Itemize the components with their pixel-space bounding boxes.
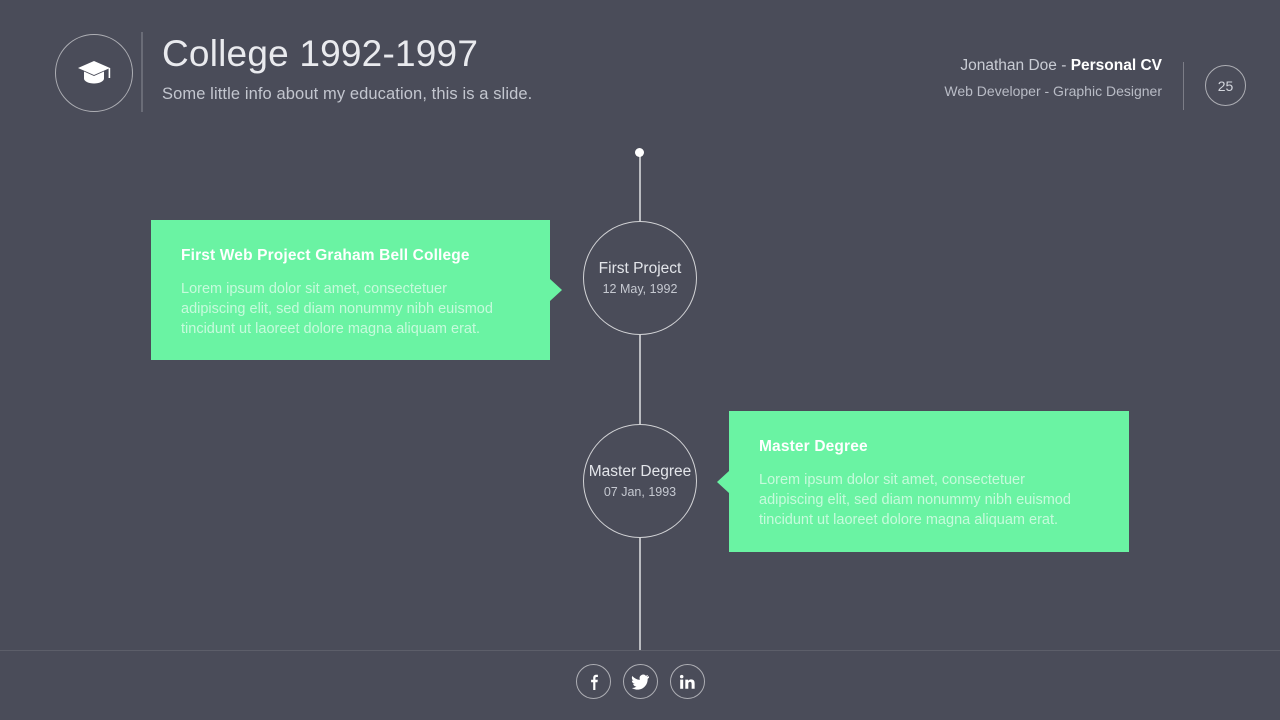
cv-author-line: Jonathan Doe - Personal CV bbox=[944, 57, 1162, 75]
timeline-node-title: First Project bbox=[599, 260, 682, 279]
timeline-node-title: Master Degree bbox=[589, 463, 692, 482]
page-number-badge: 25 bbox=[1205, 65, 1246, 106]
linkedin-icon[interactable] bbox=[670, 664, 705, 699]
twitter-icon[interactable] bbox=[623, 664, 658, 699]
card-title: First Web Project Graham Bell College bbox=[181, 247, 520, 266]
title-block: College 1992-1997 Some little info about… bbox=[162, 33, 532, 104]
slide-header: College 1992-1997 Some little info about… bbox=[0, 0, 1280, 130]
social-links bbox=[0, 664, 1280, 699]
cv-author-role: Web Developer - Graphic Designer bbox=[944, 83, 1162, 99]
cv-author-name: Jonathan Doe - bbox=[960, 57, 1070, 74]
meta-divider bbox=[1183, 62, 1184, 110]
card-pointer-right-icon bbox=[550, 279, 562, 301]
card-pointer-left-icon bbox=[717, 471, 729, 493]
cv-meta: Jonathan Doe - Personal CV Web Developer… bbox=[944, 57, 1162, 99]
timeline-card-master-degree[interactable]: Master Degree Lorem ipsum dolor sit amet… bbox=[729, 411, 1129, 552]
page-subtitle: Some little info about my education, thi… bbox=[162, 85, 532, 104]
graduation-cap-icon bbox=[55, 34, 133, 112]
timeline-node-master-degree[interactable]: Master Degree 07 Jan, 1993 bbox=[583, 424, 697, 538]
cv-author-title: Personal CV bbox=[1071, 57, 1162, 74]
page-title: College 1992-1997 bbox=[162, 33, 532, 76]
card-body: Lorem ipsum dolor sit amet, consectetuer… bbox=[181, 279, 511, 339]
timeline-card-first-project[interactable]: First Web Project Graham Bell College Lo… bbox=[151, 220, 550, 360]
timeline-node-first-project[interactable]: First Project 12 May, 1992 bbox=[583, 221, 697, 335]
slide-canvas: College 1992-1997 Some little info about… bbox=[0, 0, 1280, 720]
card-body: Lorem ipsum dolor sit amet, consectetuer… bbox=[759, 470, 1089, 530]
footer-divider bbox=[0, 650, 1280, 651]
timeline-node-date: 12 May, 1992 bbox=[603, 282, 678, 296]
facebook-icon[interactable] bbox=[576, 664, 611, 699]
header-divider bbox=[141, 32, 143, 112]
timeline-node-date: 07 Jan, 1993 bbox=[604, 485, 676, 499]
card-title: Master Degree bbox=[759, 438, 1099, 457]
